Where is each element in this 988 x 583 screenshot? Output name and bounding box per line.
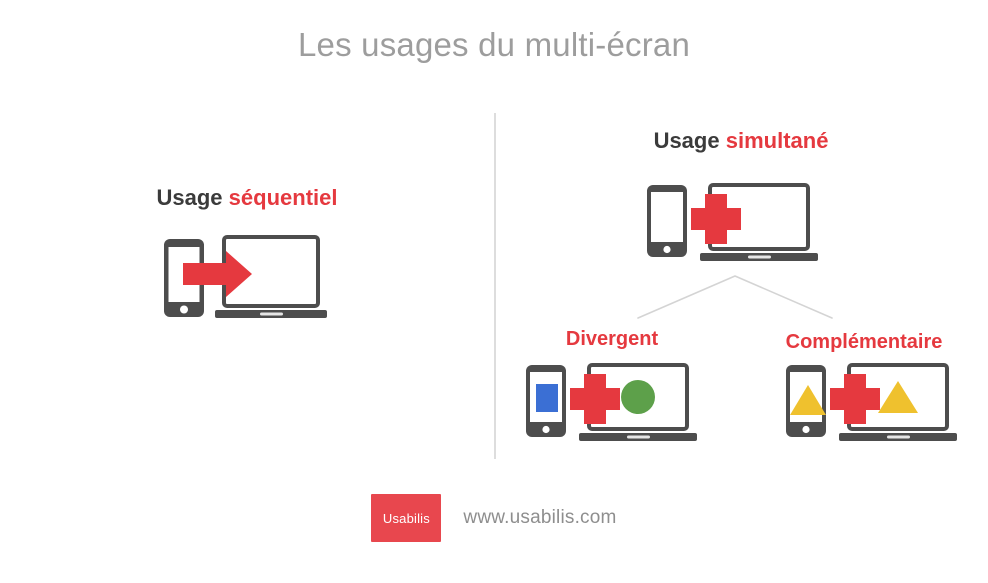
page-title: Les usages du multi-écran [0,26,988,64]
phone-content-rectangle [536,384,558,412]
heading-simultaneous-word-dark: Usage [654,128,720,153]
heading-divergent-label: Divergent [566,328,658,350]
illustration-divergent [524,363,704,448]
heading-simultaneous-word-red: simultané [726,128,829,153]
heading-complementary: Complémentaire [740,332,988,352]
illustration-complementary [784,363,964,448]
illustration-sequential [160,232,350,328]
footer: Usabilis www.usabilis.com [0,494,988,542]
heading-sequential: Usage séquentiel [0,187,494,209]
laptop-content-circle [621,380,655,414]
phone-icon [647,185,687,257]
illustration-simultaneous [645,183,825,268]
branch-connector [600,268,880,328]
heading-sequential-word-red: séquentiel [229,185,338,210]
phone-icon [526,365,566,437]
site-url[interactable]: www.usabilis.com [463,507,616,529]
phone-icon [786,365,826,437]
heading-divergent: Divergent [494,329,730,349]
heading-complementary-label: Complémentaire [786,331,943,353]
heading-simultaneous: Usage simultané [494,130,988,152]
brand-logo[interactable]: Usabilis [371,494,441,542]
vertical-divider [494,113,496,459]
infographic-canvas: Les usages du multi-écran Usage séquenti… [0,0,988,583]
brand-logo-text: Usabilis [383,511,430,526]
heading-sequential-word-dark: Usage [157,185,223,210]
